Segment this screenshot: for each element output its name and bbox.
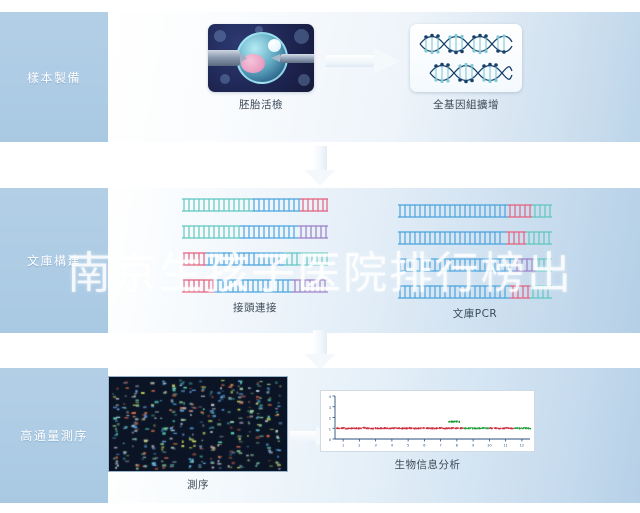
dna-ladder-icon-p1: [396, 202, 554, 220]
svg-text:9: 9: [472, 444, 474, 448]
workflow-row-high-throughput-sequencing: 高通量測序 測序 01234123456789101112 生物信息分析: [0, 368, 640, 503]
svg-text:3: 3: [375, 444, 377, 448]
caption-whole-genome-amplification: 全基因組擴增: [410, 97, 522, 112]
svg-text:4: 4: [391, 444, 394, 448]
dna-ladder-icon-p3: [396, 256, 554, 274]
dna-ladder-icon-a2: [180, 223, 330, 241]
step-sequencing: 測序: [108, 376, 288, 492]
step-adapter-ligation: 接頭連接: [180, 196, 330, 315]
svg-text:0: 0: [329, 438, 332, 442]
flowcell-image: [108, 376, 288, 472]
step-embryo-biopsy: 胚胎活檢: [208, 24, 314, 112]
workflow-row-library-construction: 文庫構建: [0, 188, 640, 333]
workflow-diagram: 樣本製備 胚胎活檢: [0, 0, 640, 513]
svg-text:7: 7: [440, 444, 442, 448]
row-label-sample-preparation: 樣本製備: [0, 12, 108, 142]
svg-text:2: 2: [329, 417, 331, 421]
svg-text:10: 10: [487, 444, 491, 448]
caption-sequencing: 測序: [108, 477, 288, 492]
step-library-pcr: 文庫PCR: [396, 202, 554, 321]
step-bioinformatics-analysis: 01234123456789101112 生物信息分析: [320, 390, 535, 472]
row-body-high-throughput-sequencing: 測序 01234123456789101112 生物信息分析: [108, 368, 640, 503]
cnv-plot-svg: 01234123456789101112: [321, 391, 534, 451]
workflow-row-sample-preparation: 樣本製備 胚胎活檢: [0, 12, 640, 142]
caption-embryo-biopsy: 胚胎活檢: [208, 97, 314, 112]
arrow-down-icon-2: [305, 330, 335, 370]
dna-helix-icon-bottom: [428, 62, 514, 84]
svg-text:8: 8: [456, 444, 458, 448]
dna-helix-image: [410, 24, 522, 92]
svg-text:2: 2: [358, 444, 360, 448]
dna-ladder-icon-a1: [180, 196, 330, 214]
row-label-library-construction: 文庫構建: [0, 188, 108, 333]
row-body-library-construction: 接頭連接: [108, 188, 640, 333]
dna-ladder-icon-p2: [396, 229, 554, 247]
embryo-biopsy-image: [208, 24, 314, 92]
dna-ladder-adapter-image: [180, 196, 330, 295]
arrow-down-icon-1: [305, 146, 335, 186]
dna-ladder-icon-p4: [396, 283, 554, 301]
cnv-plot-chart: 01234123456789101112: [320, 390, 535, 452]
row-label-high-throughput-sequencing: 高通量測序: [0, 368, 108, 503]
svg-text:3: 3: [329, 406, 331, 410]
dna-ladder-icon-a4: [180, 277, 330, 295]
dna-ladder-icon-a3: [180, 250, 330, 268]
caption-library-pcr: 文庫PCR: [396, 306, 554, 321]
svg-text:11: 11: [503, 444, 507, 448]
svg-text:1: 1: [342, 444, 344, 448]
svg-text:1: 1: [329, 427, 331, 431]
dna-helix-icon-top: [418, 33, 514, 55]
svg-text:6: 6: [423, 444, 425, 448]
step-whole-genome-amplification: 全基因組擴增: [410, 24, 522, 112]
svg-text:4: 4: [329, 395, 332, 399]
svg-text:5: 5: [407, 444, 409, 448]
caption-bioinformatics-analysis: 生物信息分析: [320, 457, 535, 472]
arrow-right-icon-sample-prep: [326, 48, 400, 74]
dna-ladder-pcr-image: [396, 202, 554, 301]
svg-text:12: 12: [520, 444, 524, 448]
caption-adapter-ligation: 接頭連接: [180, 300, 330, 315]
row-body-sample-preparation: 胚胎活檢: [108, 12, 640, 142]
